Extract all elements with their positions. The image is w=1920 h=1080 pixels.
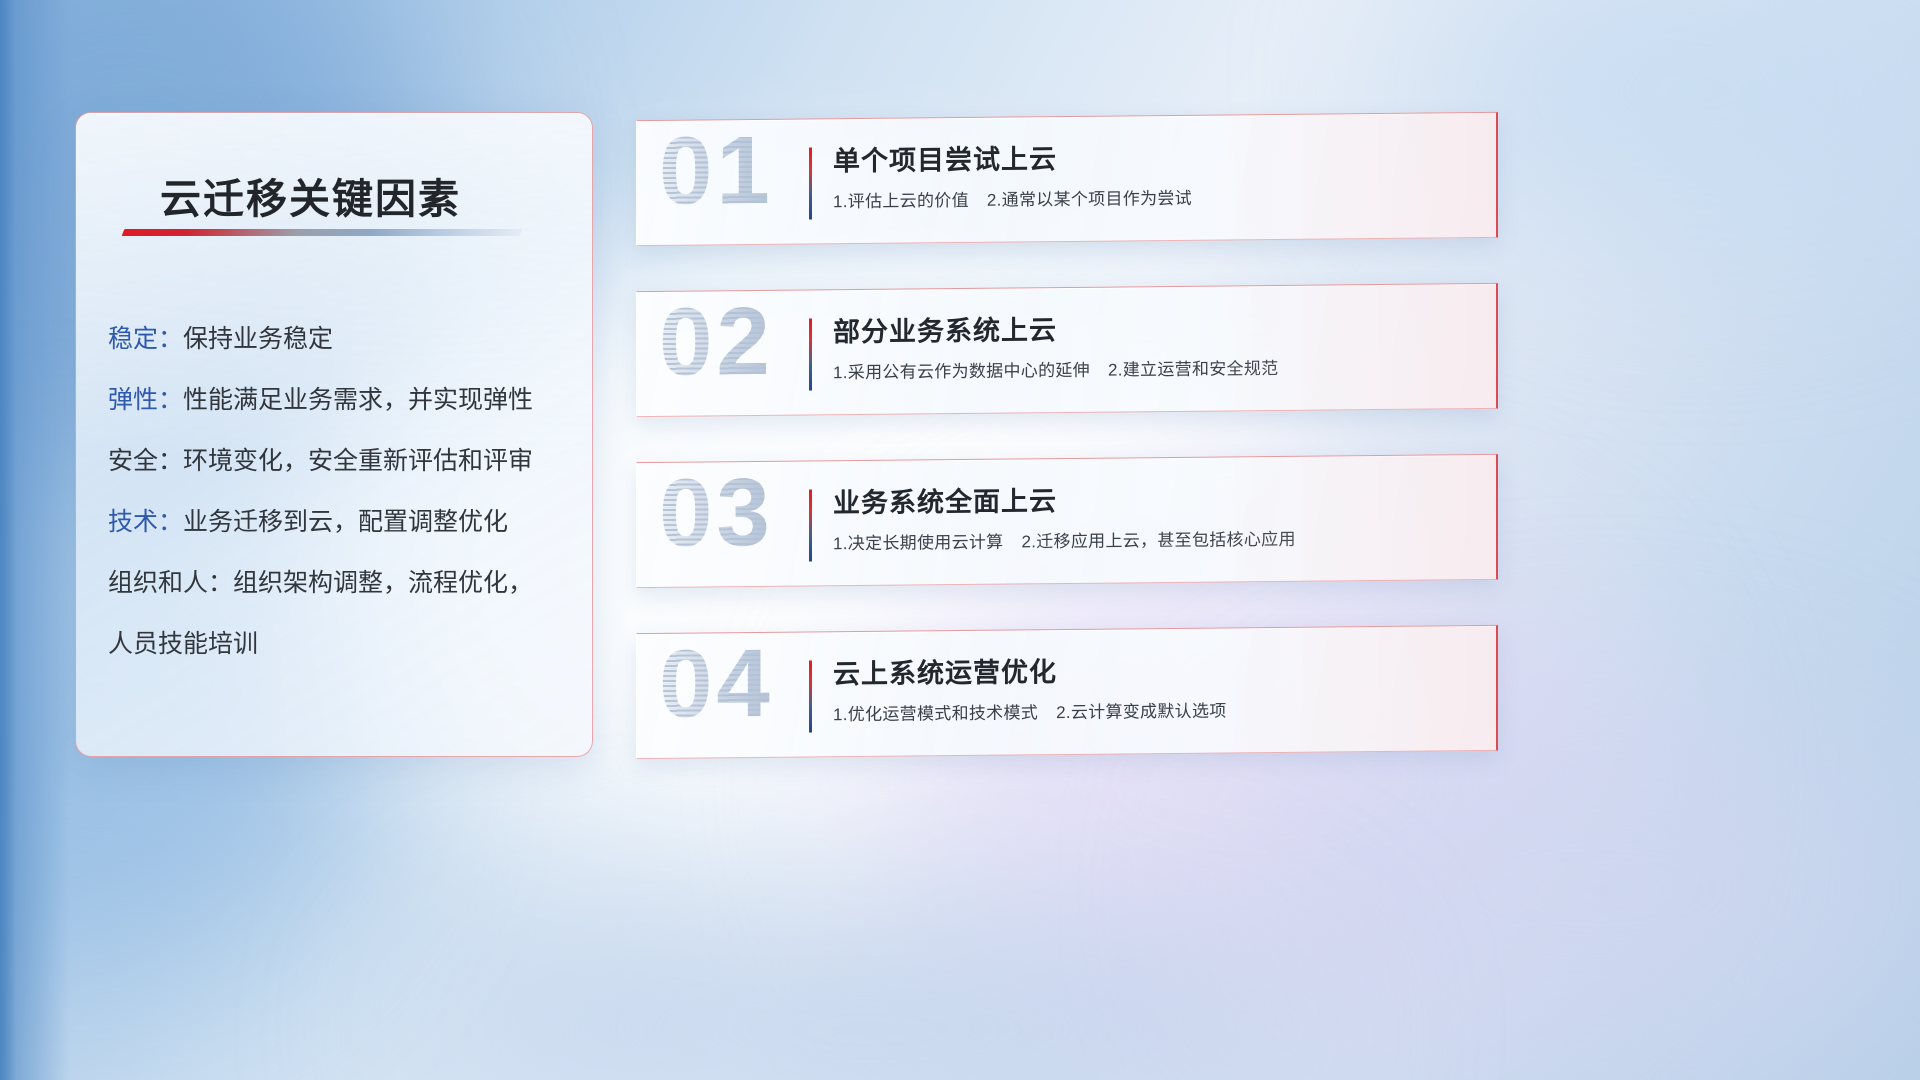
step-subtitle-part-1: 1.优化运营模式和技术模式 — [833, 703, 1038, 724]
factor-text: 保持业务稳定 — [183, 325, 333, 353]
step-card-02[interactable]: 02 部分业务系统上云 1.采用公有云作为数据中心的延伸2.建立运营和安全规范 — [636, 283, 1498, 417]
step-subtitle: 1.决定长期使用云计算2.迁移应用上云，甚至包括核心应用 — [833, 525, 1296, 554]
factor-label: 稳定： — [108, 325, 183, 353]
factor-text: 业务迁移到云，配置调整优化 — [183, 508, 508, 536]
step-number-ghost: 01 — [659, 116, 774, 227]
step-accent-bar — [809, 147, 812, 219]
slide-content: 云迁移关键因素 稳定：保持业务稳定 弹性：性能满足业务需求，并实现弹性 安全：环… — [0, 0, 1920, 1080]
step-card-01[interactable]: 01 单个项目尝试上云 1.评估上云的价值2.通常以某个项目作为尝试 — [636, 112, 1498, 246]
list-item: 技术：业务迁移到云，配置调整优化 — [108, 492, 572, 553]
step-accent-bar — [809, 660, 812, 732]
list-item: 安全：环境变化，安全重新评估和评审 — [108, 431, 572, 492]
step-title: 部分业务系统上云 — [833, 308, 1057, 349]
step-subtitle-part-1: 1.评估上云的价值 — [833, 191, 969, 211]
step-card-03[interactable]: 03 业务系统全面上云 1.决定长期使用云计算2.迁移应用上云，甚至包括核心应用 — [636, 454, 1498, 588]
step-subtitle-part-2: 2.迁移应用上云，甚至包括核心应用 — [1021, 530, 1295, 552]
key-factors-list: 稳定：保持业务稳定 弹性：性能满足业务需求，并实现弹性 安全：环境变化，安全重新… — [108, 309, 572, 675]
list-item: 稳定：保持业务稳定 — [108, 309, 572, 370]
step-accent-bar — [809, 318, 812, 390]
factor-label: 技术： — [108, 508, 183, 536]
factor-text: 性能满足业务需求，并实现弹性 — [183, 386, 533, 414]
step-subtitle-part-1: 1.决定长期使用云计算 — [833, 533, 1003, 554]
step-subtitle-part-2: 2.云计算变成默认选项 — [1056, 701, 1226, 722]
page-title: 云迁移关键因素 — [160, 165, 461, 225]
factor-label: 弹性： — [108, 386, 183, 414]
step-subtitle-part-2: 2.通常以某个项目作为尝试 — [987, 189, 1192, 210]
step-title: 云上系统运营优化 — [833, 650, 1057, 691]
factor-text-continuation: 人员技能培训 — [108, 614, 572, 675]
step-number-ghost: 04 — [659, 629, 774, 740]
list-item: 组织和人：组织架构调整，流程优化， — [108, 553, 572, 614]
list-item: 弹性：性能满足业务需求，并实现弹性 — [108, 370, 572, 431]
step-card-04[interactable]: 04 云上系统运营优化 1.优化运营模式和技术模式2.云计算变成默认选项 — [636, 625, 1498, 759]
factor-text: 组织架构调整，流程优化， — [233, 569, 533, 597]
step-subtitle: 1.采用公有云作为数据中心的延伸2.建立运营和安全规范 — [833, 354, 1278, 383]
step-subtitle-part-2: 2.建立运营和安全规范 — [1108, 359, 1278, 380]
step-subtitle: 1.优化运营模式和技术模式2.云计算变成默认选项 — [833, 696, 1227, 725]
key-factors-panel: 云迁移关键因素 稳定：保持业务稳定 弹性：性能满足业务需求，并实现弹性 安全：环… — [75, 112, 593, 757]
title-underline-accent — [122, 229, 523, 236]
factor-label: 组织和人： — [108, 569, 233, 597]
step-title: 业务系统全面上云 — [833, 479, 1057, 520]
step-title: 单个项目尝试上云 — [833, 137, 1057, 178]
step-accent-bar — [809, 489, 812, 561]
step-number-ghost: 02 — [659, 287, 774, 398]
factor-label: 安全： — [108, 447, 183, 475]
step-subtitle: 1.评估上云的价值2.通常以某个项目作为尝试 — [833, 184, 1192, 212]
step-number-ghost: 03 — [659, 458, 774, 569]
step-subtitle-part-1: 1.采用公有云作为数据中心的延伸 — [833, 361, 1090, 382]
factor-text: 环境变化，安全重新评估和评审 — [183, 447, 533, 475]
